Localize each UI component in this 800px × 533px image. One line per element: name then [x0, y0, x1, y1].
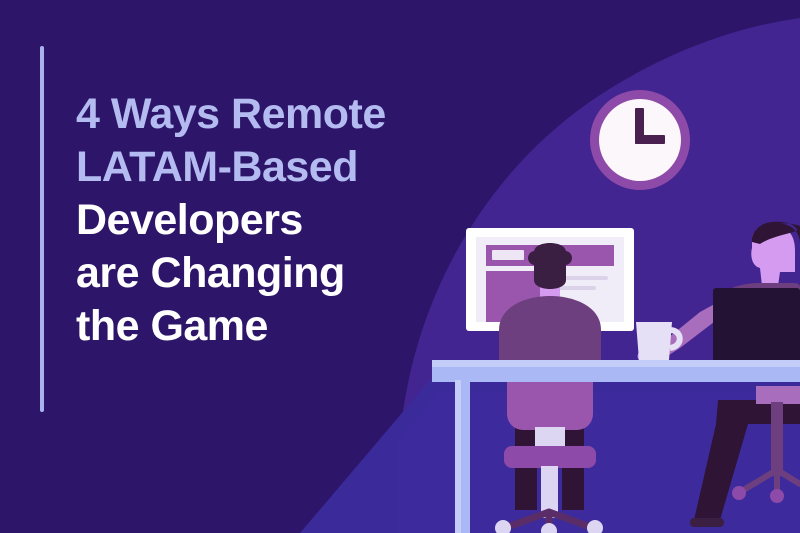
headline-line-1: 4 Ways Remote	[76, 88, 386, 141]
chair2-column	[771, 402, 783, 476]
person1-hair-left	[528, 251, 542, 265]
person1-hair-right	[558, 251, 572, 265]
headline-line-4: are Changing	[76, 247, 386, 300]
person2-shoe	[690, 518, 724, 527]
headline-line-3: Developers	[76, 194, 386, 247]
page-title: 4 Ways Remote LATAM-Based Developers are…	[44, 46, 386, 412]
banner-graphic: 4 Ways Remote LATAM-Based Developers are…	[0, 0, 800, 533]
chair2-caster-center	[770, 489, 784, 503]
clock-hand-minute	[635, 135, 665, 144]
person1-head	[534, 243, 566, 289]
headline-line-2: LATAM-Based	[76, 141, 386, 194]
chair-seat	[504, 446, 596, 468]
headline-line-5: the Game	[76, 300, 386, 353]
chair-connector	[535, 427, 565, 449]
chair2-seat	[756, 386, 800, 404]
mug-body	[636, 322, 672, 360]
wall-clock	[590, 90, 690, 190]
headline-block: 4 Ways Remote LATAM-Based Developers are…	[40, 46, 510, 412]
chair2-caster-left	[732, 486, 746, 500]
